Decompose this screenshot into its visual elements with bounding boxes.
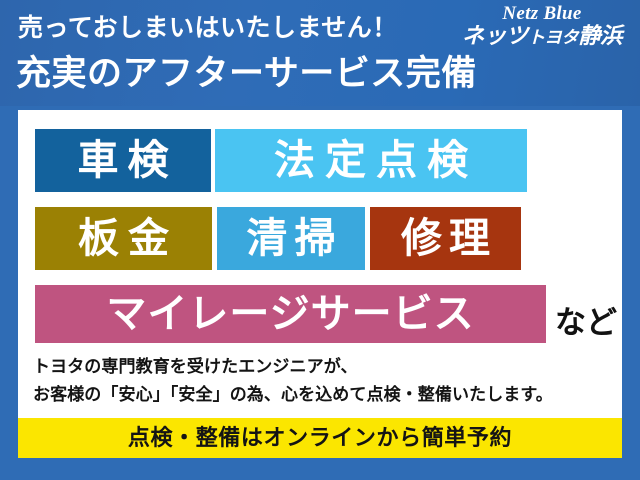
service-chip-seisou: 清掃 (217, 207, 365, 270)
online-booking-banner[interactable]: 点検・整備はオンラインから簡単予約 (18, 418, 622, 458)
online-booking-label: 点検・整備はオンラインから簡単予約 (128, 427, 512, 449)
service-chip-label: マイレージサービス (106, 294, 474, 334)
dealer-logo: Netz Blue ネッツトヨタ静浜 (452, 4, 632, 48)
body-copy-line-2: お客様の「安心」「安全」の為、心を込めて点検・整備いたします。 (33, 381, 613, 409)
service-chip-bankin: 板金 (35, 207, 212, 270)
content-panel: 車検 法定点検 板金 清掃 修理 マイレージサービス など トヨタの専門教育を受… (18, 110, 622, 455)
service-chip-shaken: 車検 (35, 129, 211, 192)
brand-name-japanese: ネッツトヨタ静浜 (450, 24, 634, 48)
service-chip-label: 法定点検 (264, 140, 478, 181)
service-chip-label: 車検 (69, 140, 178, 181)
service-row-2: 板金 清掃 修理 (35, 207, 521, 270)
header-tagline: 売っておしまいはいたしません！ (18, 16, 398, 41)
body-copy: トヨタの専門教育を受けたエンジニアが、 お客様の「安心」「安全」の為、心を込めて… (33, 353, 613, 408)
service-chip-hoteitenken: 法定点検 (215, 129, 527, 192)
body-copy-line-1: トヨタの専門教育を受けたエンジニアが、 (33, 353, 613, 381)
service-chip-mileage-service: マイレージサービス (35, 285, 546, 343)
brand-name-english: Netz Blue (452, 4, 632, 24)
brand-jp-small: トヨタ (528, 28, 578, 47)
service-chip-label: 板金 (69, 218, 178, 259)
brand-jp-tail: 静浜 (578, 23, 622, 48)
service-chip-label: 清掃 (240, 218, 343, 259)
service-suffix-label: など (552, 307, 617, 343)
header-headline: 充実のアフターサービス完備 (16, 54, 477, 93)
service-row-1: 車検 法定点検 (35, 129, 527, 192)
service-chip-label: 修理 (394, 218, 497, 259)
advertisement-banner: 売っておしまいはいたしません！ 充実のアフターサービス完備 Netz Blue … (0, 0, 640, 480)
service-row-3: マイレージサービス など (35, 285, 617, 343)
header-band: 売っておしまいはいたしません！ 充実のアフターサービス完備 Netz Blue … (0, 0, 640, 106)
brand-jp-main: ネッツ (462, 23, 528, 48)
service-chip-shuuri: 修理 (370, 207, 521, 270)
